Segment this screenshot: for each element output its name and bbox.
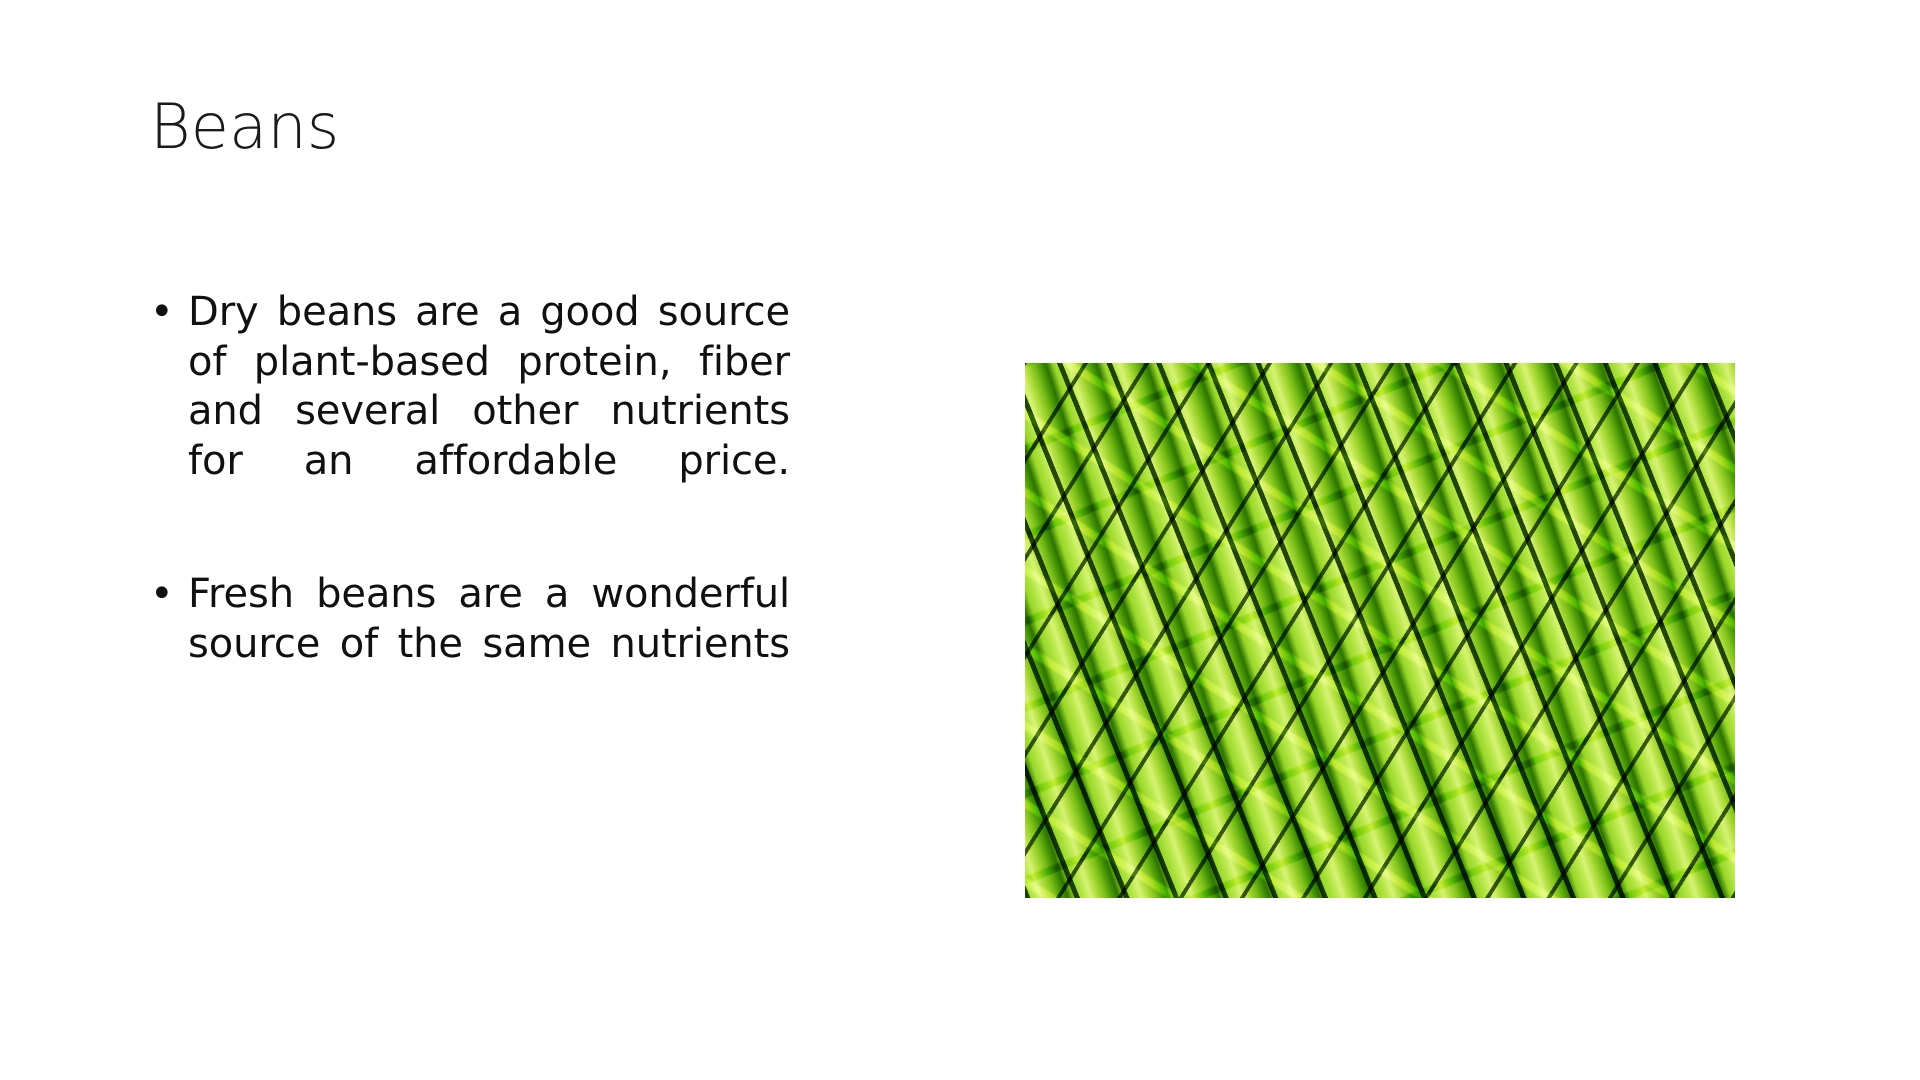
bullet-marker-icon: •: [150, 288, 174, 338]
presentation-slide: Beans • Dry beans are a good source of p…: [0, 0, 1920, 1080]
list-item: • Dry beans are a good source of plant-b…: [140, 288, 790, 536]
list-item-text: Dry beans are a good source of plant-bas…: [188, 288, 790, 536]
green-beans-photo-image: [1025, 363, 1735, 898]
page-title: Beans: [150, 92, 1150, 161]
bullet-marker-icon: •: [150, 570, 174, 620]
green-beans-photo: [1025, 363, 1735, 898]
slide-body-placeholder: • Dry beans are a good source of plant-b…: [140, 288, 790, 719]
list-item: • Fresh beans are a wonderful source of …: [140, 570, 790, 719]
list-item-text: Fresh beans are a wonderful source of th…: [188, 570, 790, 719]
